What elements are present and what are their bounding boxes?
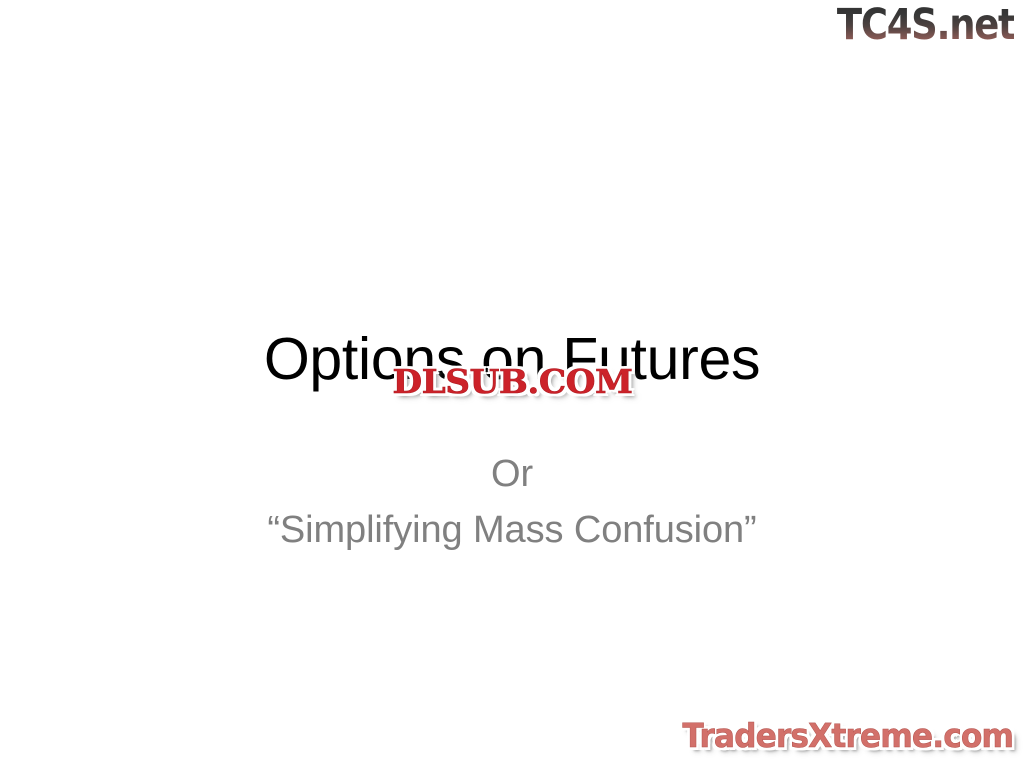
presentation-slide: TC4S.net Options on Futures DLSUB.COM Or…: [0, 0, 1024, 768]
tradersxtreme-brand-logo: TradersXtreme.com: [682, 716, 1013, 756]
subtitle-line-2: “Simplifying Mass Confusion”: [0, 502, 1024, 558]
tc4s-brand-logo: TC4S.net: [836, 2, 1014, 48]
page-title: Options on Futures: [0, 326, 1024, 392]
subtitle-block: Or “Simplifying Mass Confusion”: [0, 446, 1024, 558]
subtitle-line-1: Or: [0, 446, 1024, 502]
